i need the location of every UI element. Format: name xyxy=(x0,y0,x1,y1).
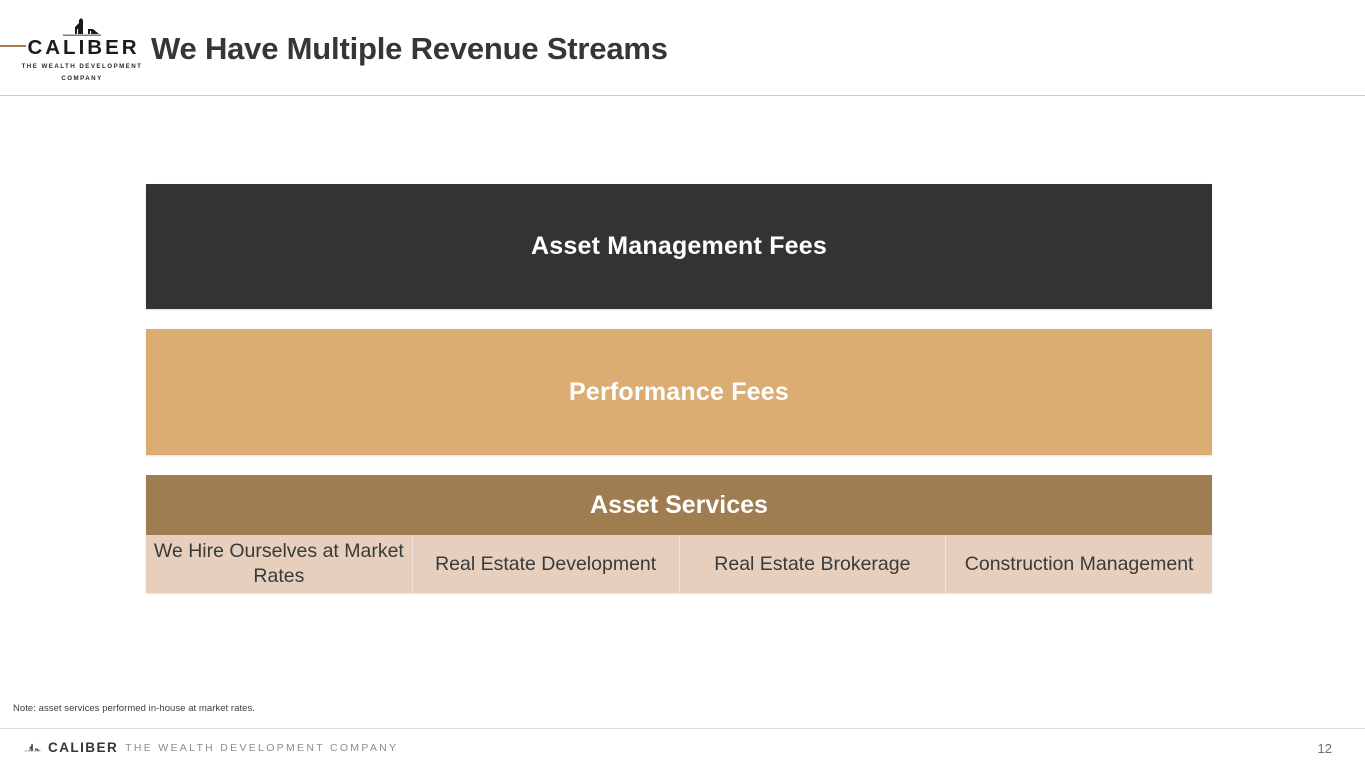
page-number: 12 xyxy=(1318,741,1332,756)
footer-brand-name: CALIBER xyxy=(48,740,118,755)
footer-tagline: THE WEALTH DEVELOPMENT COMPANY xyxy=(125,742,398,754)
stack-spacer xyxy=(146,309,1212,329)
asset-service-label: Real Estate Brokerage xyxy=(714,552,910,577)
revenue-stream-asset-services-group: Asset Services We Hire Ourselves at Mark… xyxy=(146,475,1212,593)
asset-service-label: Construction Management xyxy=(965,552,1194,577)
stack-spacer xyxy=(146,455,1212,475)
logo-wordmark: CALIBER xyxy=(18,38,146,59)
asset-service-cell: Real Estate Development xyxy=(413,535,680,593)
slide-header: CALIBER THE WEALTH DEVELOPMENT COMPANY W… xyxy=(0,0,1365,96)
asset-services-row: We Hire Ourselves at Market Rates Real E… xyxy=(146,535,1212,593)
asset-service-cell: Construction Management xyxy=(946,535,1212,593)
slide-canvas: CALIBER THE WEALTH DEVELOPMENT COMPANY W… xyxy=(0,0,1365,768)
caliber-building-mark-icon xyxy=(24,742,41,753)
asset-service-cell: Real Estate Brokerage xyxy=(680,535,947,593)
logo-tagline-line2: COMPANY xyxy=(18,74,146,83)
footnote: Note: asset services performed in-house … xyxy=(13,703,255,714)
caliber-building-mark-icon xyxy=(62,17,102,37)
revenue-stream-label: Performance Fees xyxy=(569,378,789,407)
asset-service-label: Real Estate Development xyxy=(435,552,656,577)
footer-brand: CALIBER THE WEALTH DEVELOPMENT COMPANY xyxy=(24,740,398,755)
revenue-stream-label: Asset Management Fees xyxy=(531,232,827,261)
asset-service-cell: We Hire Ourselves at Market Rates xyxy=(146,535,413,593)
caliber-logo: CALIBER THE WEALTH DEVELOPMENT COMPANY xyxy=(18,17,146,83)
page-title: We Have Multiple Revenue Streams xyxy=(151,31,668,67)
asset-service-label: We Hire Ourselves at Market Rates xyxy=(152,539,406,589)
slide-footer: CALIBER THE WEALTH DEVELOPMENT COMPANY 1… xyxy=(0,728,1365,768)
revenue-stream-asset-services: Asset Services xyxy=(146,475,1212,535)
revenue-streams-stack: Asset Management Fees Performance Fees A… xyxy=(146,184,1212,593)
logo-tagline-line1: THE WEALTH DEVELOPMENT xyxy=(18,62,146,71)
revenue-stream-asset-management-fees: Asset Management Fees xyxy=(146,184,1212,309)
revenue-stream-label: Asset Services xyxy=(590,491,768,520)
revenue-stream-performance-fees: Performance Fees xyxy=(146,329,1212,455)
